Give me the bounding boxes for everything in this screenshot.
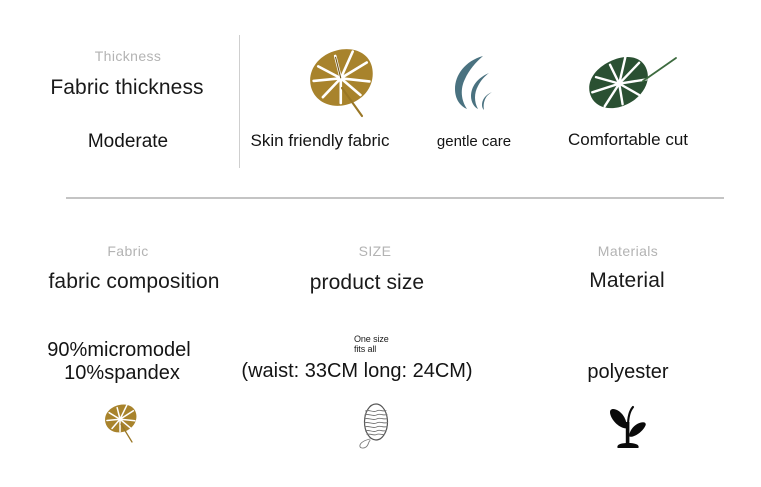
feature-label-comfortable-cut: Comfortable cut [568, 130, 688, 150]
materials-eyebrow: Materials [598, 243, 658, 259]
horizontal-divider [66, 197, 724, 199]
size-note-line-1: One size [354, 334, 389, 344]
size-value-line-1: (waist: 33CM long: 24CM) [241, 360, 472, 383]
thickness-eyebrow: Thickness [95, 48, 162, 64]
gold-monstera-leaf-icon [304, 47, 380, 119]
fabric-value-line-1: 90%micromodel [47, 339, 190, 362]
teal-wave-icon [453, 54, 495, 110]
fabric-eyebrow: Fabric [107, 243, 148, 259]
green-monstera-leaf-icon [575, 55, 681, 111]
sprout-icon [607, 404, 649, 450]
thickness-value: Moderate [88, 131, 168, 153]
materials-headline: Material [589, 269, 665, 293]
thickness-headline: Fabric thickness [50, 76, 203, 100]
materials-value-line-1: polyester [587, 361, 668, 384]
fabric-headline: fabric composition [48, 270, 219, 294]
feature-label-gentle-care: gentle care [437, 133, 511, 150]
size-headline: product size [310, 271, 424, 295]
product-spec-panel: Thickness Fabric thickness Moderate [0, 0, 761, 487]
vertical-divider [239, 35, 240, 168]
fabric-value-line-2: 10%spandex [64, 362, 180, 385]
feature-label-skin-friendly-fabric: Skin friendly fabric [251, 131, 390, 151]
gold-monstera-leaf-icon [102, 403, 142, 443]
size-note-line-2: fits all [354, 344, 376, 354]
size-eyebrow: SIZE [359, 243, 392, 259]
thread-spool-icon [356, 402, 392, 452]
